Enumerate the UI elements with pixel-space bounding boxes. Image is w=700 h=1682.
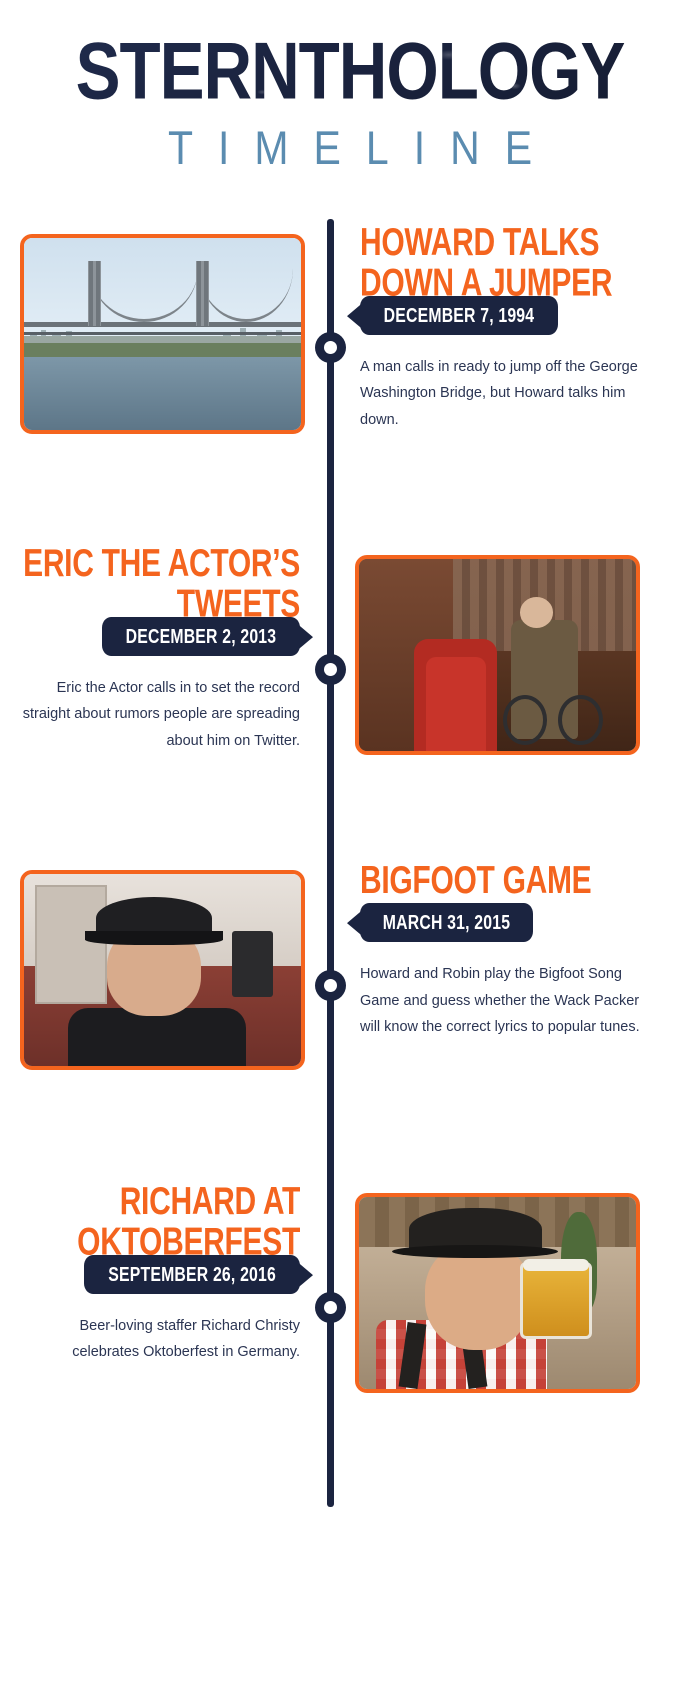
george-washington-bridge-photo bbox=[24, 238, 301, 430]
entry-description: Howard and Robin play the Bigfoot Song G… bbox=[360, 961, 650, 1040]
entry-photo[interactable] bbox=[355, 1193, 640, 1393]
entry-photo[interactable] bbox=[355, 555, 640, 755]
entry-date-badge: DECEMBER 7, 1994 bbox=[360, 296, 558, 335]
entry-photo[interactable] bbox=[20, 870, 305, 1070]
timeline-entry: RICHARD AT OKTOBERFEST SEPTEMBER 26, 201… bbox=[0, 1173, 700, 1492]
entry-description: Beer-loving staffer Richard Christy cele… bbox=[10, 1313, 300, 1366]
timeline-entry: ERIC THE ACTOR’S TWEETS DECEMBER 2, 2013… bbox=[0, 535, 700, 854]
timeline-node bbox=[315, 654, 346, 685]
bigfoot-wack-packer-photo bbox=[24, 874, 301, 1066]
entry-text-block: ERIC THE ACTOR’S TWEETS DECEMBER 2, 2013… bbox=[10, 545, 300, 754]
entry-headline: HOWARD TALKS DOWN A JUMPER bbox=[360, 224, 650, 304]
timeline-node bbox=[315, 1292, 346, 1323]
entry-description: Eric the Actor calls in to set the recor… bbox=[10, 675, 300, 754]
entry-headline: ERIC THE ACTOR’S TWEETS bbox=[10, 545, 300, 625]
page-title: STERNTHOLOGY bbox=[0, 34, 700, 108]
entry-date-badge: SEPTEMBER 26, 2016 bbox=[84, 1255, 300, 1294]
entry-date-text: DECEMBER 2, 2013 bbox=[126, 625, 277, 649]
entry-date-row: DECEMBER 2, 2013 bbox=[10, 620, 300, 653]
entry-date-badge: MARCH 31, 2015 bbox=[360, 903, 533, 942]
entry-date-text: DECEMBER 7, 1994 bbox=[384, 304, 535, 328]
entry-date-badge: DECEMBER 2, 2013 bbox=[102, 617, 300, 656]
entry-text-block: BIGFOOT GAME MARCH 31, 2015 Howard and R… bbox=[360, 862, 650, 1041]
entry-photo[interactable] bbox=[20, 234, 305, 434]
page-header: STERNTHOLOGY TIMELINE bbox=[0, 0, 700, 168]
entry-text-block: HOWARD TALKS DOWN A JUMPER DECEMBER 7, 1… bbox=[360, 224, 650, 433]
entry-description: A man calls in ready to jump off the Geo… bbox=[360, 354, 650, 433]
entry-date-text: SEPTEMBER 26, 2016 bbox=[108, 1263, 276, 1287]
timeline-list: HOWARD TALKS DOWN A JUMPER DECEMBER 7, 1… bbox=[0, 216, 700, 1492]
entry-headline: BIGFOOT GAME bbox=[360, 862, 650, 902]
timeline-node bbox=[315, 970, 346, 1001]
eric-the-actor-wheelchair-photo bbox=[359, 559, 636, 751]
timeline-entry: HOWARD TALKS DOWN A JUMPER DECEMBER 7, 1… bbox=[0, 216, 700, 535]
entry-date-text: MARCH 31, 2015 bbox=[383, 912, 510, 936]
entry-date-row: SEPTEMBER 26, 2016 bbox=[10, 1258, 300, 1291]
entry-headline: RICHARD AT OKTOBERFEST bbox=[10, 1183, 300, 1263]
richard-christy-oktoberfest-photo bbox=[359, 1197, 636, 1389]
page-subtitle: TIMELINE bbox=[0, 121, 700, 176]
timeline-entry: BIGFOOT GAME MARCH 31, 2015 Howard and R… bbox=[0, 854, 700, 1173]
page-title-text: STERNTHOLOGY bbox=[76, 34, 625, 108]
entry-date-row: MARCH 31, 2015 bbox=[360, 906, 650, 939]
entry-text-block: RICHARD AT OKTOBERFEST SEPTEMBER 26, 201… bbox=[10, 1183, 300, 1366]
timeline-node bbox=[315, 332, 346, 363]
